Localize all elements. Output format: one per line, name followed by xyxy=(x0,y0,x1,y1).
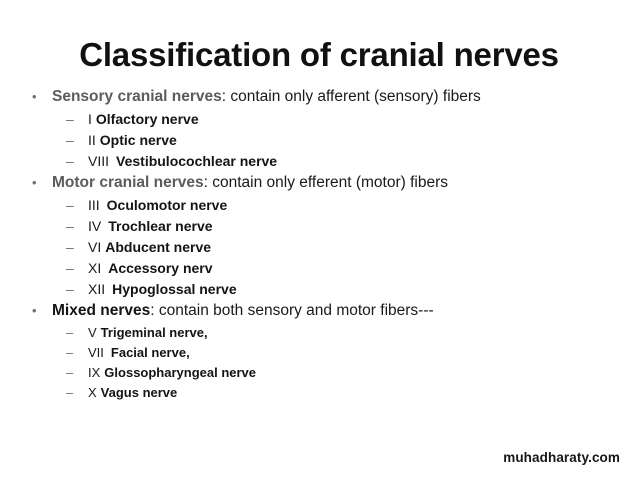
nerve-name: Hypoglossal nerve xyxy=(112,281,237,297)
sub-item: –VIIFacial nerve, xyxy=(0,343,638,363)
nerve-name: Optic nerve xyxy=(100,132,177,148)
bullet-group-motor: •Motor cranial nerves: contain only effe… xyxy=(0,172,638,300)
dash-marker-icon: – xyxy=(66,383,88,403)
dash-marker-icon: – xyxy=(66,279,88,300)
dash-marker-icon: – xyxy=(66,258,88,279)
sub-item: –IVTrochlear nerve xyxy=(0,216,638,237)
sub-item-text: XVagus nerve xyxy=(88,383,177,403)
sub-item-text: VIIFacial nerve, xyxy=(88,343,190,363)
nerve-numeral: XII xyxy=(88,281,105,297)
sub-item: –VIAbducent nerve xyxy=(0,237,638,258)
sub-item-text: IXGlossopharyngeal nerve xyxy=(88,363,256,383)
dash-marker-icon: – xyxy=(66,323,88,343)
dash-marker-icon: – xyxy=(66,130,88,151)
nerve-numeral: VII xyxy=(88,345,104,360)
sub-item-text: XIAccessory nerv xyxy=(88,258,213,279)
bullet-lead-label: Motor cranial nerves xyxy=(52,174,204,191)
nerve-numeral: XI xyxy=(88,260,101,276)
sub-item: –IIOptic nerve xyxy=(0,130,638,151)
nerve-name: Abducent nerve xyxy=(105,239,211,255)
nerve-numeral: II xyxy=(88,132,96,148)
dash-marker-icon: – xyxy=(66,216,88,237)
bullet-rest-label: : contain only afferent (sensory) fibers xyxy=(222,88,481,105)
dash-marker-icon: – xyxy=(66,363,88,383)
nerve-name: Trochlear nerve xyxy=(108,218,212,234)
bullet-text: Motor cranial nerves: contain only effer… xyxy=(52,172,448,194)
content-list: •Sensory cranial nerves: contain only af… xyxy=(0,86,638,403)
dash-marker-icon: – xyxy=(66,151,88,172)
bullet-text: Mixed nerves: contain both sensory and m… xyxy=(52,300,434,322)
bullet-group-sensory: •Sensory cranial nerves: contain only af… xyxy=(0,86,638,172)
sub-item: –IXGlossopharyngeal nerve xyxy=(0,363,638,383)
dash-marker-icon: – xyxy=(66,343,88,363)
nerve-name: Accessory nerv xyxy=(108,260,212,276)
sub-item: –VIIIVestibulocochlear nerve xyxy=(0,151,638,172)
sub-item: –IOlfactory nerve xyxy=(0,109,638,130)
nerve-name: Trigeminal nerve, xyxy=(101,325,208,340)
nerve-name: Facial nerve, xyxy=(111,345,190,360)
nerve-name: Olfactory nerve xyxy=(96,111,199,127)
bullet-marker-icon: • xyxy=(30,300,52,322)
bullet-item-mixed: •Mixed nerves: contain both sensory and … xyxy=(0,300,638,322)
nerve-name: Vagus nerve xyxy=(101,385,178,400)
slide: Classification of cranial nerves •Sensor… xyxy=(0,0,638,479)
sub-item: –XVagus nerve xyxy=(0,383,638,403)
sub-item-text: IIOptic nerve xyxy=(88,130,177,151)
sub-item: –XIAccessory nerv xyxy=(0,258,638,279)
sub-item-text: IIIOculomotor nerve xyxy=(88,195,227,216)
page-title: Classification of cranial nerves xyxy=(0,38,638,73)
dash-marker-icon: – xyxy=(66,109,88,130)
nerve-numeral: VI xyxy=(88,239,101,255)
sub-item-text: IOlfactory nerve xyxy=(88,109,199,130)
bullet-rest-label: : contain only efferent (motor) fibers xyxy=(204,174,448,191)
bullet-text: Sensory cranial nerves: contain only aff… xyxy=(52,86,481,108)
sub-item-text: VTrigeminal nerve, xyxy=(88,323,208,343)
nerve-numeral: I xyxy=(88,111,92,127)
bullet-group-mixed: •Mixed nerves: contain both sensory and … xyxy=(0,300,638,403)
bullet-marker-icon: • xyxy=(30,86,52,108)
watermark: muhadharaty.com xyxy=(503,450,620,465)
nerve-name: Oculomotor nerve xyxy=(107,197,228,213)
nerve-numeral: IV xyxy=(88,218,101,234)
nerve-numeral: VIII xyxy=(88,153,109,169)
bullet-rest-label: : contain both sensory and motor fibers-… xyxy=(150,302,433,319)
nerve-name: Glossopharyngeal nerve xyxy=(104,365,256,380)
sub-item: –IIIOculomotor nerve xyxy=(0,195,638,216)
sub-item: –XIIHypoglossal nerve xyxy=(0,279,638,300)
sub-item-text: XIIHypoglossal nerve xyxy=(88,279,237,300)
nerve-numeral: III xyxy=(88,197,100,213)
dash-marker-icon: – xyxy=(66,237,88,258)
nerve-numeral: X xyxy=(88,385,97,400)
sub-item: –VTrigeminal nerve, xyxy=(0,323,638,343)
bullet-lead-label: Sensory cranial nerves xyxy=(52,88,222,105)
dash-marker-icon: – xyxy=(66,195,88,216)
bullet-item-motor: •Motor cranial nerves: contain only effe… xyxy=(0,172,638,194)
nerve-name: Vestibulocochlear nerve xyxy=(116,153,277,169)
nerve-numeral: V xyxy=(88,325,97,340)
sub-item-text: VIAbducent nerve xyxy=(88,237,211,258)
bullet-item-sensory: •Sensory cranial nerves: contain only af… xyxy=(0,86,638,108)
bullet-lead-label: Mixed nerves xyxy=(52,302,150,319)
sub-item-text: VIIIVestibulocochlear nerve xyxy=(88,151,277,172)
nerve-numeral: IX xyxy=(88,365,100,380)
sub-item-text: IVTrochlear nerve xyxy=(88,216,213,237)
bullet-marker-icon: • xyxy=(30,172,52,194)
